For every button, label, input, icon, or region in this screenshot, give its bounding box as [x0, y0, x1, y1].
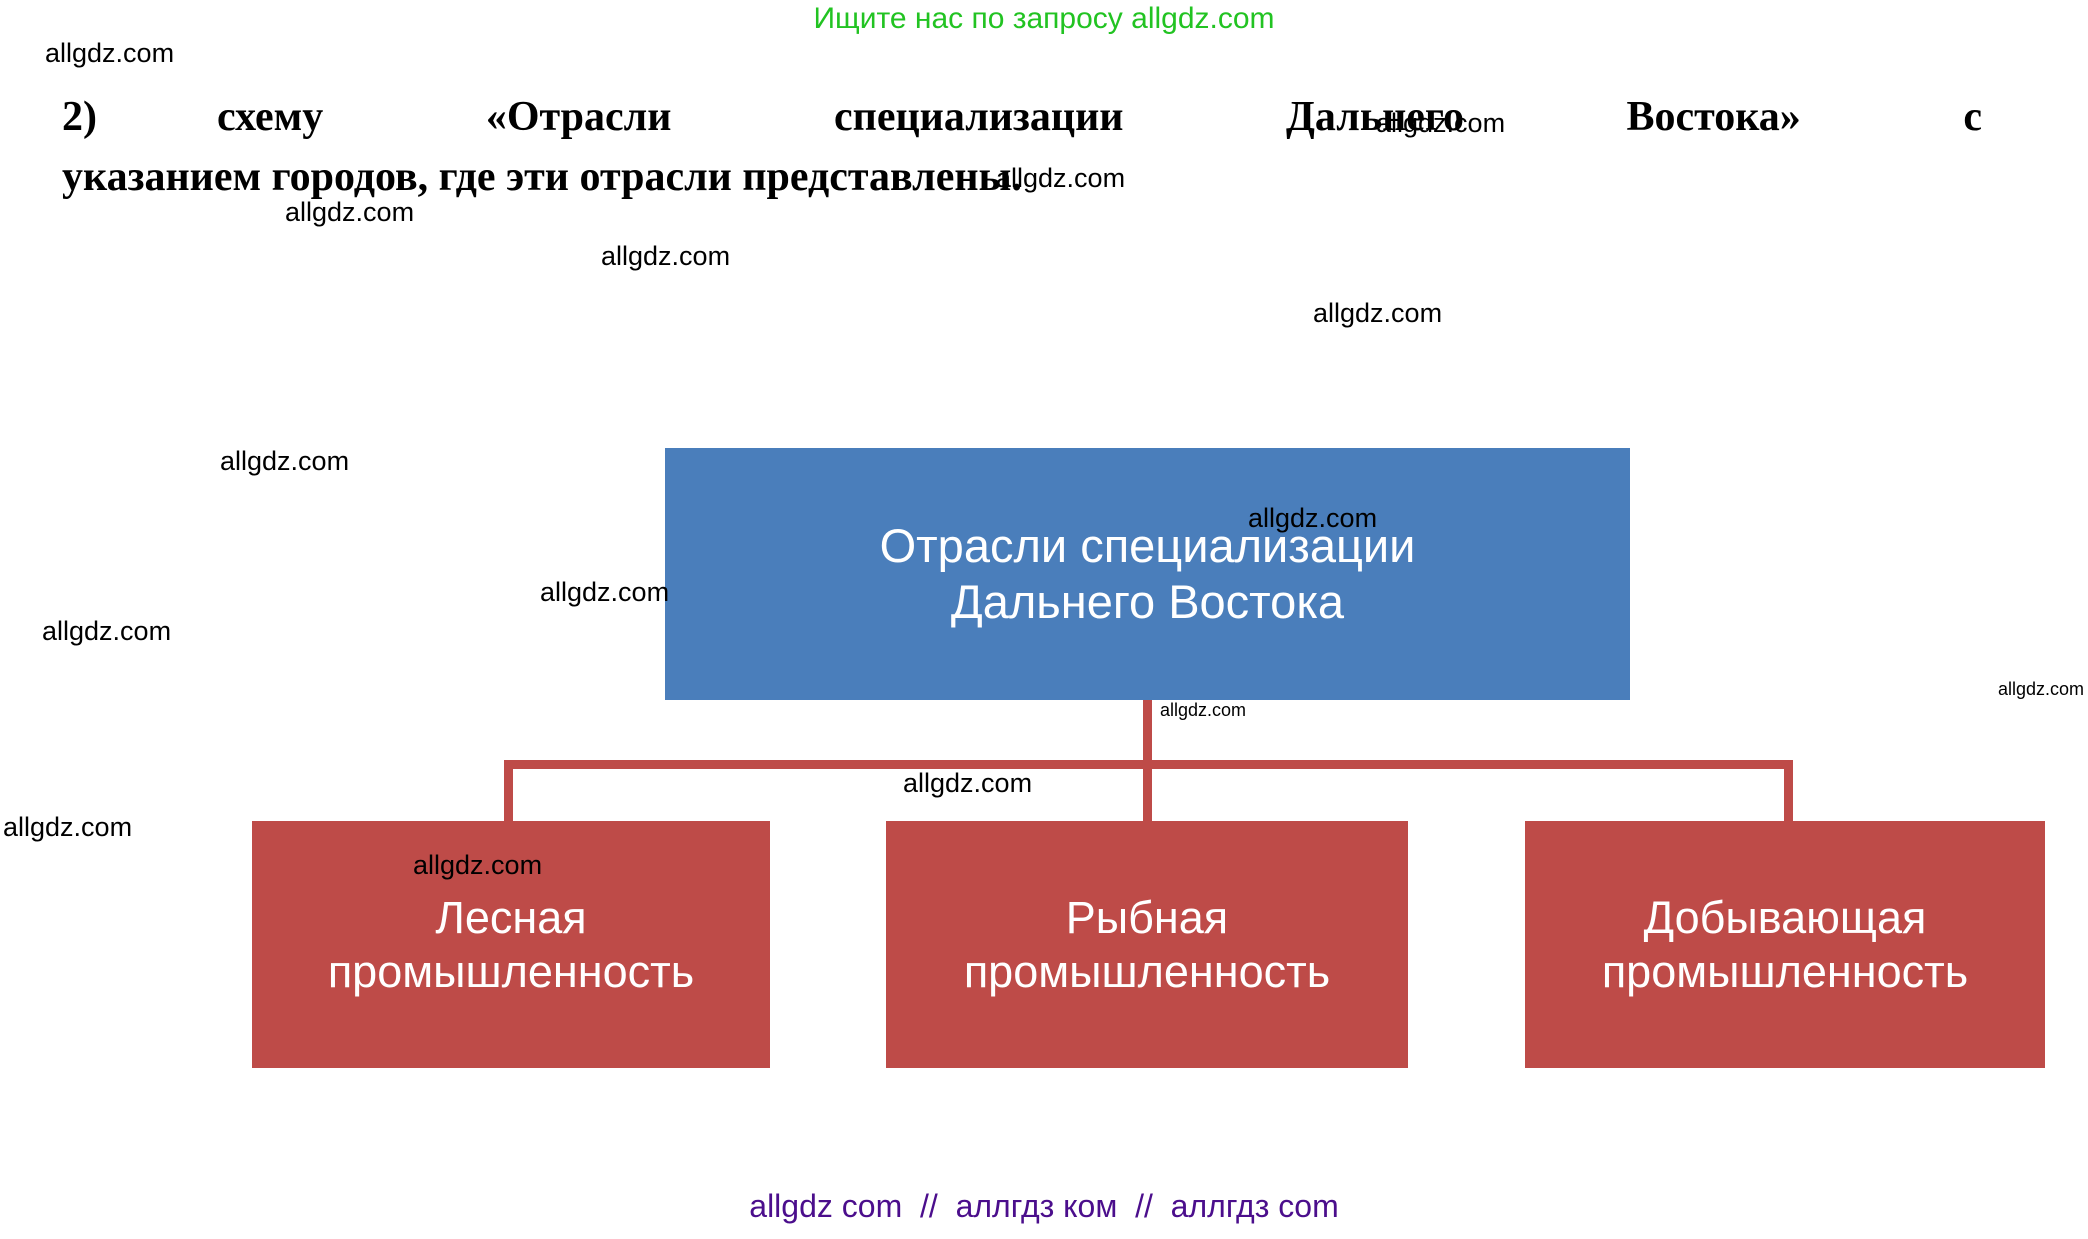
- connector-drop-right: [1784, 760, 1793, 821]
- connector-root-stem: [1143, 700, 1152, 766]
- watermark-allgdz: allgdz.com: [601, 241, 730, 272]
- diagram-node-root: Отрасли специализации Дальнего Востока: [665, 448, 1630, 700]
- watermark-allgdz: allgdz.com: [220, 446, 349, 477]
- watermark-allgdz: allgdz.com: [1248, 503, 1377, 534]
- diagram-node-fishing: Рыбная промышленность: [886, 821, 1408, 1068]
- task-text-line-1: 2)схему «Отрасли специализации Дальнего …: [62, 88, 1982, 148]
- watermark-allgdz: allgdz.com: [285, 197, 414, 228]
- watermark-allgdz: allgdz.com: [1998, 679, 2084, 700]
- watermark-allgdz: allgdz.com: [45, 38, 174, 69]
- connector-drop-middle: [1143, 760, 1152, 821]
- watermark-allgdz: allgdz.com: [42, 616, 171, 647]
- watermark-allgdz: allgdz.com: [413, 850, 542, 881]
- footer-links: allgdz com // аллгдз ком // аллгдз com: [0, 1188, 2088, 1225]
- watermark-allgdz: allgdz.com: [1376, 108, 1505, 139]
- task-text-line-1-body: схему «Отрасли специализации Дальнего Во…: [217, 94, 1982, 140]
- watermark-allgdz: allgdz.com: [540, 577, 669, 608]
- diagram-node-mining: Добывающая промышленность: [1525, 821, 2045, 1068]
- connector-drop-left: [504, 760, 513, 821]
- watermark-allgdz: allgdz.com: [1313, 298, 1442, 329]
- promo-header: Ищите нас по запросу allgdz.com: [0, 2, 2088, 36]
- diagram-page: Ищите нас по запросу allgdz.com 2)схему …: [0, 0, 2088, 1239]
- watermark-allgdz: allgdz.com: [1160, 700, 1246, 721]
- task-number: 2): [62, 94, 97, 140]
- watermark-allgdz: allgdz.com: [903, 768, 1032, 799]
- watermark-allgdz: allgdz.com: [3, 812, 132, 843]
- watermark-allgdz: allgdz.com: [996, 163, 1125, 194]
